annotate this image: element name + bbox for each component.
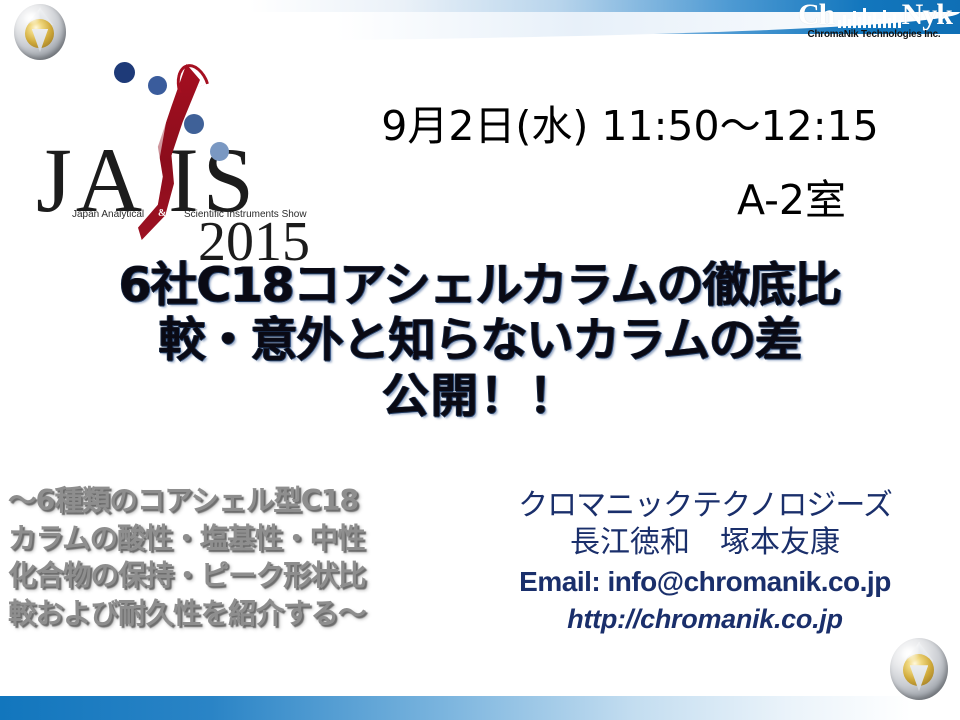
- abstract-line-1: 〜6種類のコアシェル型C18: [8, 482, 478, 520]
- presenter-block: クロマニックテクノロジーズ 長江徳和 塚本友康 Email: info@chro…: [470, 488, 940, 637]
- title-line-3: 公開！！: [0, 369, 960, 424]
- chromanik-corporate-logo: Ch Nyk ChromaNik Technologies Inc.: [794, 2, 956, 46]
- abstract-block: 〜6種類のコアシェル型C18 カラムの酸性・塩基性・中性 化合物の保持・ピーク形…: [8, 482, 478, 632]
- bottom-swoosh-shape: [0, 674, 960, 696]
- abstract-line-4: 較および耐久性を紹介する〜: [8, 595, 478, 633]
- jasis-brush-tip: [171, 60, 209, 94]
- jasis-logo: JA IS Japan Analytical & Scientific Inst…: [32, 56, 300, 252]
- event-datetime: 9月2日(水) 11:50〜12:15: [330, 104, 930, 150]
- presentation-slide: Ch Nyk ChromaNik Technologies Inc. JA IS: [0, 0, 960, 720]
- jasis-dot-1: [114, 62, 135, 83]
- chromatogram-peaks-icon: [838, 4, 904, 28]
- title-line-2: 較・意外と知らないカラムの差: [0, 313, 960, 368]
- jasis-ampersand: &: [158, 208, 166, 219]
- presenter-website-url[interactable]: http://chromanik.co.jp: [470, 601, 940, 637]
- presenter-names: 長江徳和 塚本友康: [470, 523, 940, 563]
- page-title: 6社C18コアシェルカラムの徹底比 較・意外と知らないカラムの差 公開！！: [0, 258, 960, 424]
- presenter-email[interactable]: Email: info@chromanik.co.jp: [470, 563, 940, 601]
- abstract-line-3: 化合物の保持・ピーク形状比: [8, 557, 478, 595]
- chromanik-wordmark: Ch Nyk: [794, 2, 954, 30]
- event-room: A-2室: [330, 178, 930, 224]
- bottom-gradient-band: [0, 694, 960, 720]
- jasis-subtitle-left: Japan Analytical: [72, 208, 144, 220]
- presenter-company: クロマニックテクノロジーズ: [470, 488, 940, 523]
- jasis-dot-4: [210, 142, 229, 161]
- core-shell-particle-icon: [890, 638, 948, 700]
- core-shell-particle-icon: [14, 4, 66, 60]
- abstract-line-2: カラムの酸性・塩基性・中性: [8, 520, 478, 558]
- chromanik-logo-subtitle: ChromaNik Technologies Inc.: [799, 28, 949, 40]
- particle-gloss-highlight: [900, 645, 920, 661]
- title-line-1: 6社C18コアシェルカラムの徹底比: [0, 258, 960, 313]
